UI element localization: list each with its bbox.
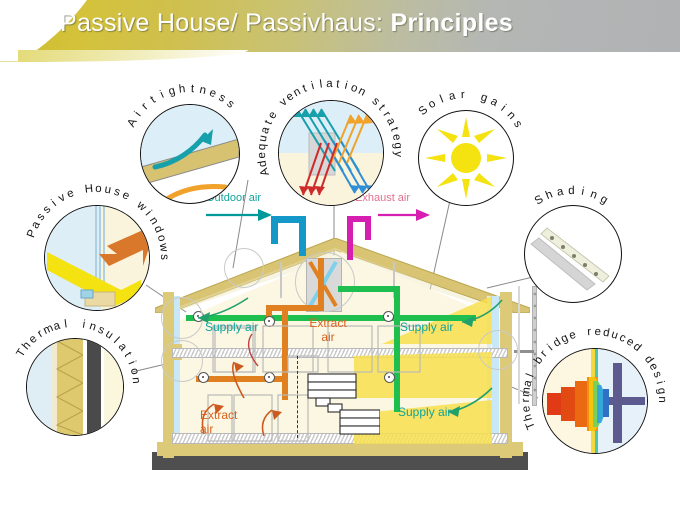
- triple-glazing-icon: [45, 206, 149, 310]
- sun-icon: [419, 111, 513, 205]
- heat-exchanger-icon: [279, 101, 383, 205]
- supply-air-label-lower-right: Supply air: [398, 405, 451, 419]
- callout-shading[interactable]: [524, 205, 622, 303]
- extract-air-word2: air: [321, 330, 334, 344]
- callout-windows[interactable]: [44, 205, 150, 311]
- extract-air-lower-word1: Extract: [200, 408, 237, 422]
- callout-solar-gains[interactable]: [418, 110, 514, 206]
- shading-rail: [518, 286, 520, 404]
- callout-airtightness[interactable]: [140, 104, 240, 204]
- exhaust-air-arrow: [378, 208, 434, 222]
- thermal-image-icon: [543, 349, 647, 453]
- exhaust-air-duct-vertical: [347, 216, 353, 260]
- callout-ventilation[interactable]: [278, 100, 384, 206]
- detail-circle-roof-airtight: [224, 248, 264, 288]
- extract-air-label-upper: Extractair: [306, 316, 350, 344]
- callout-thermal-insulation[interactable]: [26, 338, 124, 436]
- extract-air-word1: Extract: [309, 316, 346, 330]
- supply-air-label-upper-left: Supply air: [205, 320, 258, 334]
- extract-air-label-lower: Extractair: [200, 408, 244, 436]
- extract-air-lower-word2: air: [200, 422, 213, 436]
- exhaust-air-duct-riser: [365, 216, 371, 240]
- airtightness-membrane-icon: [141, 105, 239, 203]
- shading-louvers: [527, 288, 543, 406]
- wall-section-icon: [27, 339, 123, 435]
- louver-shading-icon: [525, 206, 621, 302]
- supply-air-label-upper-right: Supply air: [400, 320, 453, 334]
- callout-thermal-bridge[interactable]: [542, 348, 648, 454]
- outdoor-air-arrow: [206, 208, 276, 222]
